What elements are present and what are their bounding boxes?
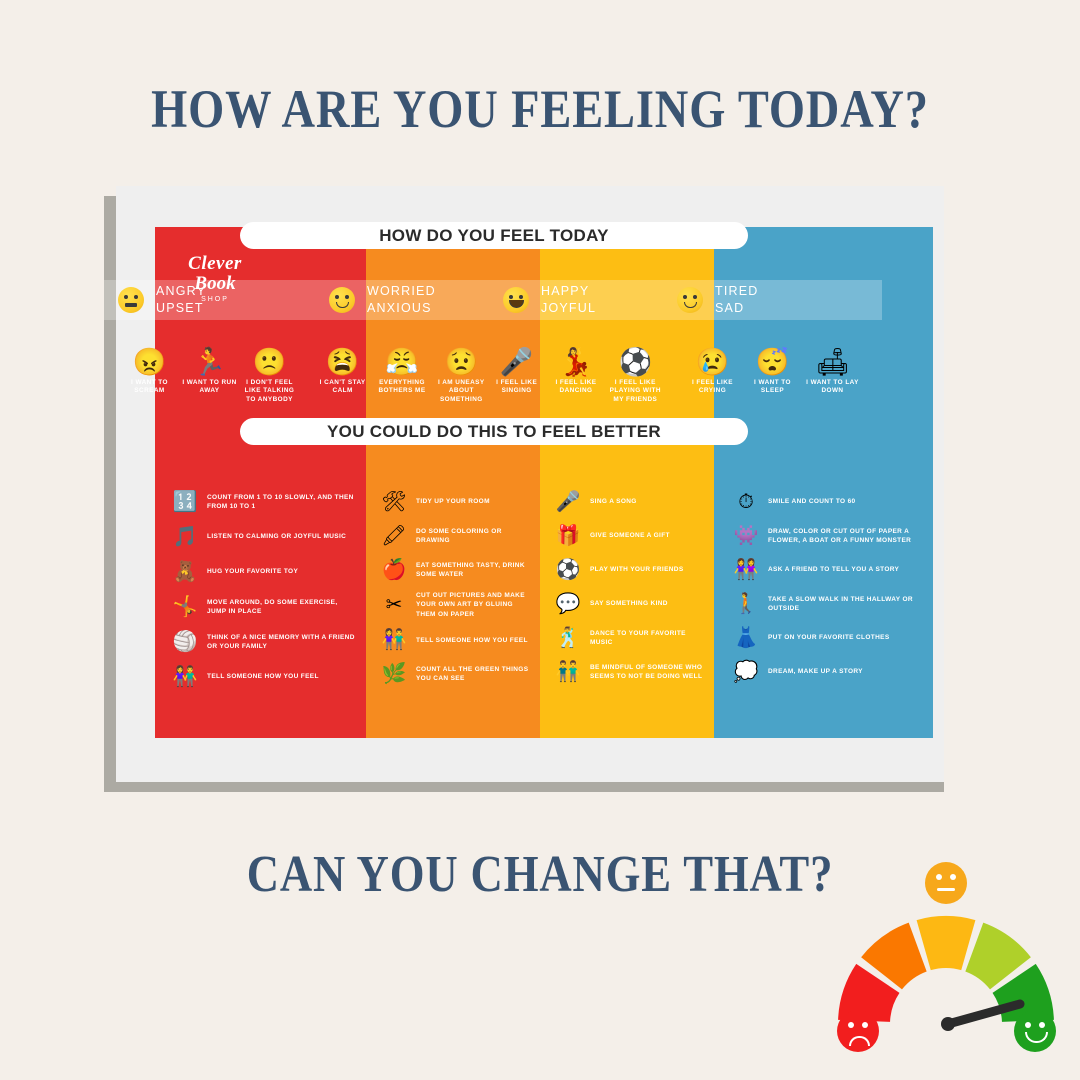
mood-label: WORRIEDANXIOUS (367, 283, 436, 317)
activity-item: 🎵LISTEN TO CALMING OR JOYFUL MUSIC (163, 524, 356, 550)
feeling-label: I AM UNEASY ABOUT SOMETHING (434, 379, 489, 404)
activity-item: 👫TELL SOMEONE HOW YOU FEEL (163, 664, 356, 690)
child-lying-down-icon: 🛋 (805, 340, 861, 376)
activity-item: 🕺DANCE TO YOUR FAVORITE MUSIC (546, 625, 708, 651)
feeling-group: 😠I WANT TO SCREAM🏃I WANT TO RUN AWAY🙁I D… (104, 338, 315, 410)
activity-item: 🤸MOVE AROUND, DO SOME EXERCISE, JUMP IN … (163, 594, 356, 620)
activity-text: DREAM, MAKE UP A STORY (768, 667, 863, 676)
activity-text: TELL SOMEONE HOW YOU FEEL (207, 672, 319, 681)
walking-icon: 🚶 (724, 591, 768, 617)
activity-item: 🌿COUNT ALL THE GREEN THINGS YOU CAN SEE (372, 661, 534, 687)
activity-item: 👫TELL SOMEONE HOW YOU FEEL (372, 627, 534, 653)
activity-text: COUNT ALL THE GREEN THINGS YOU CAN SEE (416, 665, 534, 684)
feeling-statements-row: 😠I WANT TO SCREAM🏃I WANT TO RUN AWAY🙁I D… (104, 338, 882, 410)
activity-item: 👾DRAW, COLOR OR CUT OUT OF PAPER A FLOWE… (724, 523, 925, 549)
activity-item: 👗PUT ON YOUR FAVORITE CLOTHES (724, 625, 925, 651)
feeling-item: 😤EVERYTHING BOTHERS ME (374, 340, 429, 410)
activity-text: TIDY UP YOUR ROOM (416, 497, 490, 506)
banner-feel-better: YOU COULD DO THIS TO FEEL BETTER (240, 418, 748, 445)
activity-item: 💭DREAM, MAKE UP A STORY (724, 659, 925, 685)
feeling-item: 😟I AM UNEASY ABOUT SOMETHING (434, 340, 489, 410)
thank-you-bubble-icon: 💬 (546, 591, 590, 617)
ball-icon: ⚽ (546, 557, 590, 583)
activity-text: BE MINDFUL OF SOMEONE WHO SEEMS TO NOT B… (590, 663, 708, 682)
activity-list: 🔢COUNT FROM 1 TO 10 SLOWLY, AND THEN FRO… (155, 489, 366, 699)
feeling-item: ⚽I FEEL LIKE PLAYING WITH MY FRIENDS (608, 340, 663, 410)
mood-label-line2: ANXIOUS (367, 300, 436, 317)
feeling-item: 😴I WANT TO SLEEP (745, 340, 801, 410)
happy-face-icon (503, 287, 529, 313)
feeling-label: I FEEL LIKE PLAYING WITH MY FRIENDS (608, 379, 663, 404)
drawing-icon: 🖍 (372, 523, 416, 549)
singing-child-icon: 🎤 (546, 489, 590, 515)
activity-item: ✂CUT OUT PICTURES AND MAKE YOUR OWN ART … (372, 591, 534, 619)
numbers-icon: 🔢 (163, 489, 207, 515)
page-title-top: HOW ARE YOU FEELING TODAY? (76, 78, 1005, 140)
activity-text: LISTEN TO CALMING OR JOYFUL MUSIC (207, 532, 346, 541)
activity-text: TAKE A SLOW WALK IN THE HALLWAY OR OUTSI… (768, 595, 925, 614)
mood-header-angry: ANGRYUPSET (104, 280, 315, 320)
activity-text: COUNT FROM 1 TO 10 SLOWLY, AND THEN FROM… (207, 493, 356, 512)
activity-item: 👬BE MINDFUL OF SOMEONE WHO SEEMS TO NOT … (546, 659, 708, 685)
activity-item: ⏱SMILE AND COUNT TO 60 (724, 489, 925, 515)
child-screaming-icon: 😠 (122, 340, 178, 376)
child-silent-icon: 🙁 (242, 340, 298, 376)
activity-text: MOVE AROUND, DO SOME EXERCISE, JUMP IN P… (207, 598, 356, 617)
gauge-neutral-face-icon (925, 862, 967, 904)
angry-face-icon (118, 287, 144, 313)
activity-text: DRAW, COLOR OR CUT OUT OF PAPER A FLOWER… (768, 527, 925, 546)
gauge-segment-neutral (917, 916, 976, 970)
activity-item: 🧸HUG YOUR FAVORITE TOY (163, 559, 356, 585)
clock-smile-icon: ⏱ (724, 489, 768, 515)
tired-face-icon (677, 287, 703, 313)
teddy-bear-icon: 🧸 (163, 559, 207, 585)
clothes-icon: 👗 (724, 625, 768, 651)
feeling-item: 🎤I FEEL LIKE SINGING (489, 340, 544, 410)
activity-item: ⚽PLAY WITH YOUR FRIENDS (546, 557, 708, 583)
activity-list: 🛠TIDY UP YOUR ROOM🖍DO SOME COLORING OR D… (366, 489, 540, 695)
activity-text: SMILE AND COUNT TO 60 (768, 497, 856, 506)
mood-label-line1: WORRIED (367, 283, 436, 300)
mood-header-strip: ANGRYUPSETWORRIEDANXIOUSHAPPYJOYFULTIRED… (104, 280, 882, 320)
activity-item: 🚶TAKE A SLOW WALK IN THE HALLWAY OR OUTS… (724, 591, 925, 617)
activity-list: ⏱SMILE AND COUNT TO 60👾DRAW, COLOR OR CU… (714, 489, 933, 693)
mood-gauge (820, 852, 1072, 1072)
gauge-happy-face-icon (1014, 1010, 1056, 1052)
child-running-icon: 🏃 (182, 340, 238, 376)
child-singing-icon: 🎤 (489, 340, 544, 376)
mood-label-line2: JOYFUL (541, 300, 596, 317)
feeling-item: 🏃I WANT TO RUN AWAY (182, 340, 238, 410)
gauge-sad-face-icon (837, 1010, 879, 1052)
mood-label-line2: SAD (715, 300, 759, 317)
monster-drawing-icon: 👾 (724, 523, 768, 549)
mood-header-happy: HAPPYJOYFUL (489, 280, 663, 320)
feeling-item: 🛋I WANT TO LAY DOWN (805, 340, 861, 410)
feeling-label: I FEEL LIKE CRYING (685, 379, 741, 396)
activity-item: 🍎EAT SOMETHING TASTY, DRINK SOME WATER (372, 557, 534, 583)
activity-text: TELL SOMEONE HOW YOU FEEL (416, 636, 528, 645)
two-children-icon: 👫 (372, 627, 416, 653)
exercise-icon: 🤸 (163, 594, 207, 620)
child-restless-icon: 😫 (315, 340, 370, 376)
mood-label: TIREDSAD (715, 283, 759, 317)
feeling-item: 😠I WANT TO SCREAM (122, 340, 178, 410)
activity-text: HUG YOUR FAVORITE TOY (207, 567, 298, 576)
feeling-group: 🎤I FEEL LIKE SINGING💃I FEEL LIKE DANCING… (489, 338, 663, 410)
mood-label-line1: HAPPY (541, 283, 596, 300)
activity-text: DANCE TO YOUR FAVORITE MUSIC (590, 629, 708, 648)
two-children-icon: 👫 (163, 664, 207, 690)
activity-item: 🖍DO SOME COLORING OR DRAWING (372, 523, 534, 549)
activity-item: 🎁GIVE SOMEONE A GIFT (546, 523, 708, 549)
feeling-label: I FEEL LIKE DANCING (548, 379, 603, 396)
activity-text: CUT OUT PICTURES AND MAKE YOUR OWN ART B… (416, 591, 534, 619)
banner-how-do-you-feel: HOW DO YOU FEEL TODAY (240, 222, 748, 249)
child-uneasy-icon: 😟 (434, 340, 489, 376)
mood-header-worried: WORRIEDANXIOUS (315, 280, 489, 320)
feeling-label: EVERYTHING BOTHERS ME (374, 379, 429, 396)
child-dancing-icon: 💃 (548, 340, 603, 376)
activity-text: PLAY WITH YOUR FRIENDS (590, 565, 684, 574)
activity-item: 🛠TIDY UP YOUR ROOM (372, 489, 534, 515)
activity-text: SAY SOMETHING KIND (590, 599, 668, 608)
caring-children-icon: 👬 (546, 659, 590, 685)
activity-item: 🏐THINK OF A NICE MEMORY WITH A FRIEND OR… (163, 629, 356, 655)
mood-label: ANGRYUPSET (156, 283, 206, 317)
activity-item: 💬SAY SOMETHING KIND (546, 591, 708, 617)
worried-face-icon (329, 287, 355, 313)
brand-line-1: Clever (170, 254, 260, 273)
activity-item: 🔢COUNT FROM 1 TO 10 SLOWLY, AND THEN FRO… (163, 489, 356, 515)
music-notes-icon: 🎵 (163, 524, 207, 550)
activity-text: PUT ON YOUR FAVORITE CLOTHES (768, 633, 890, 642)
feeling-label: I FEEL LIKE SINGING (489, 379, 544, 396)
feeling-label: I WANT TO RUN AWAY (182, 379, 238, 396)
feeling-item: 💃I FEEL LIKE DANCING (548, 340, 603, 410)
activity-item: 🎤SING A SONG (546, 489, 708, 515)
friends-story-icon: 👭 (724, 557, 768, 583)
green-things-icon: 🌿 (372, 661, 416, 687)
feeling-group: 😢I FEEL LIKE CRYING😴I WANT TO SLEEP🛋I WA… (663, 338, 882, 410)
child-playing-icon: ⚽ (608, 340, 663, 376)
feeling-label: I WANT TO LAY DOWN (805, 379, 861, 396)
gift-icon: 🎁 (546, 523, 590, 549)
ball-memory-icon: 🏐 (163, 629, 207, 655)
child-crying-icon: 😢 (685, 340, 741, 376)
feeling-item: 🙁I DON'T FEEL LIKE TALKING TO ANYBODY (242, 340, 298, 410)
framed-poster: 🔢COUNT FROM 1 TO 10 SLOWLY, AND THEN FRO… (104, 196, 944, 792)
dream-cloud-icon: 💭 (724, 659, 768, 685)
feeling-label: I CAN'T STAY CALM (315, 379, 370, 396)
activity-text: SING A SONG (590, 497, 637, 506)
feeling-item: 😫I CAN'T STAY CALM (315, 340, 370, 410)
mood-label-line1: ANGRY (156, 283, 206, 300)
food-drink-icon: 🍎 (372, 557, 416, 583)
activity-text: DO SOME COLORING OR DRAWING (416, 527, 534, 546)
activity-text: EAT SOMETHING TASTY, DRINK SOME WATER (416, 561, 534, 580)
child-sleeping-icon: 😴 (745, 340, 801, 376)
feeling-group: 😫I CAN'T STAY CALM😤EVERYTHING BOTHERS ME… (315, 338, 489, 410)
activity-text: ASK A FRIEND TO TELL YOU A STORY (768, 565, 899, 574)
feeling-label: I WANT TO SLEEP (745, 379, 801, 396)
feeling-item: 😢I FEEL LIKE CRYING (685, 340, 741, 410)
mood-label: HAPPYJOYFUL (541, 283, 596, 317)
mood-header-tired: TIREDSAD (663, 280, 882, 320)
scissors-paper-icon: ✂ (372, 592, 416, 618)
activity-text: GIVE SOMEONE A GIFT (590, 531, 670, 540)
mood-label-line2: UPSET (156, 300, 206, 317)
child-annoyed-icon: 😤 (374, 340, 429, 376)
activity-item: 👭ASK A FRIEND TO TELL YOU A STORY (724, 557, 925, 583)
feeling-label: I DON'T FEEL LIKE TALKING TO ANYBODY (242, 379, 298, 404)
mood-label-line1: TIRED (715, 283, 759, 300)
desk-icon: 🛠 (372, 489, 416, 515)
activity-text: THINK OF A NICE MEMORY WITH A FRIEND OR … (207, 633, 356, 652)
dancing-child-icon: 🕺 (546, 625, 590, 651)
feeling-label: I WANT TO SCREAM (122, 379, 178, 396)
activity-list: 🎤SING A SONG🎁GIVE SOMEONE A GIFT⚽PLAY WI… (540, 489, 714, 693)
